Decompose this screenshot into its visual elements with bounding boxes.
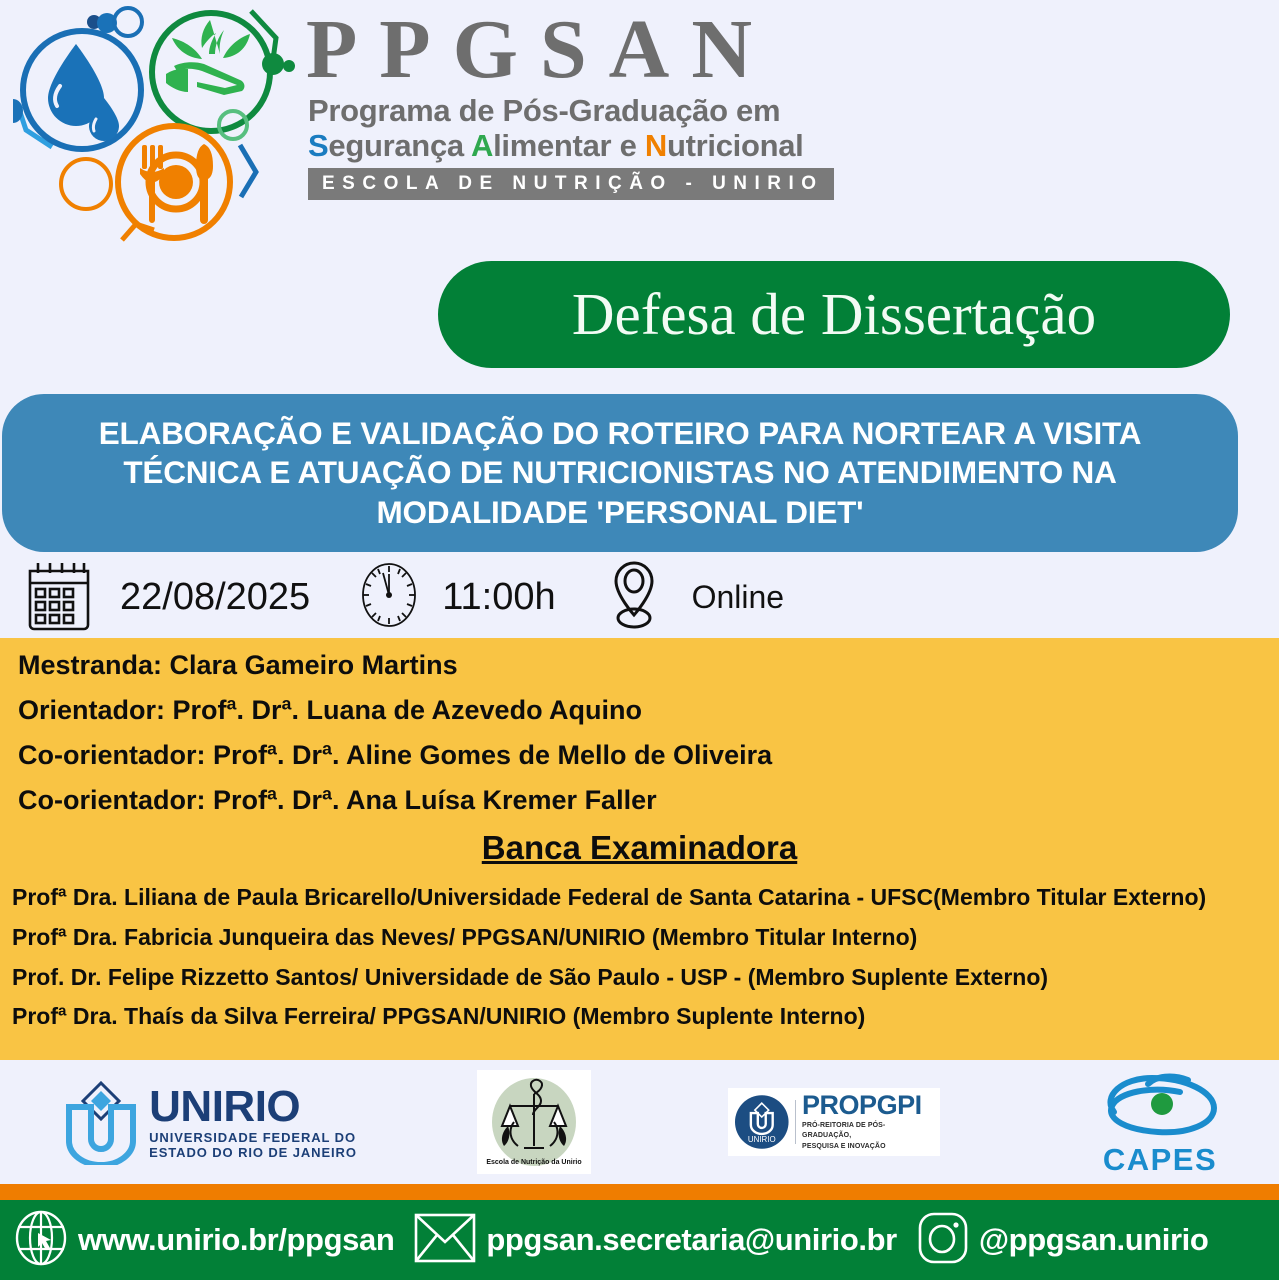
thesis-title: ELABORAÇÃO E VALIDAÇÃO DO ROTEIRO PARA N… [28, 414, 1212, 532]
clock-icon [358, 560, 420, 635]
website-text[interactable]: www.unirio.br/ppgsan [78, 1222, 394, 1258]
event-info-row: 22/08/2025 11:00h [0, 556, 1279, 638]
participants-panel: Mestranda: Clara Gameiro Martins Orienta… [0, 638, 1279, 1060]
banca-member: Profª Dra. Fabricia Junqueira das Neves/… [12, 922, 1267, 953]
propgpi-badge-text: UNIRIO [747, 1135, 775, 1144]
banca-heading: Banca Examinadora [8, 828, 1271, 868]
instagram-text[interactable]: @ppgsan.unirio [979, 1222, 1209, 1258]
header: PPGSAN Programa de Pós-Graduação em Segu… [0, 0, 1279, 248]
banca-member: Profª Dra. Thaís da Silva Ferreira/ PPGS… [12, 1001, 1267, 1032]
propgpi-sub1: PRÓ-REITORIA DE PÓS-GRADUAÇÃO, [802, 1121, 933, 1140]
propgpi-name: PROPGPI [802, 1092, 933, 1119]
capes-logo: CAPES [1080, 1060, 1240, 1184]
ppgsan-n: N [645, 128, 667, 163]
instagram-item[interactable]: @ppgsan.unirio [917, 1210, 1209, 1271]
event-date: 22/08/2025 [120, 576, 310, 619]
ppgsan-logo-marks [4, 2, 300, 242]
event-time-item: 11:00h [358, 560, 555, 635]
banca-member: Prof. Dr. Felipe Rizzetto Santos/ Univer… [12, 962, 1267, 993]
sponsor-logo-strip: UNIRIO UNIVERSIDADE FEDERAL DO ESTADO DO… [0, 1060, 1279, 1184]
calendar-icon [26, 559, 92, 636]
escola-seal-icon: Escola de Nutrição da Unirio [484, 1074, 584, 1170]
ppgsan-san-line: Segurança Alimentar e Nutricional [300, 129, 860, 164]
event-location: Online [692, 579, 785, 616]
event-date-item: 22/08/2025 [26, 559, 310, 636]
ppgsan-seguranca: egurança [328, 128, 471, 163]
ppgsan-a: A [471, 128, 493, 163]
capes-mark-icon [1092, 1070, 1228, 1142]
participant-line: Co-orientador: Profª. Drª. Ana Luísa Kre… [18, 783, 1271, 818]
unirio-logo: UNIRIO UNIVERSIDADE FEDERAL DO ESTADO DO… [60, 1060, 360, 1184]
contact-footer: www.unirio.br/ppgsan ppgsan.secretaria@u… [0, 1200, 1279, 1280]
ppgsan-acronym: PPGSAN [300, 6, 860, 94]
email-text[interactable]: ppgsan.secretaria@unirio.br [486, 1222, 897, 1258]
event-time: 11:00h [442, 576, 555, 619]
ppgsan-s: S [308, 128, 328, 163]
email-item[interactable]: ppgsan.secretaria@unirio.br [414, 1212, 897, 1269]
event-type-label: Defesa de Dissertação [572, 285, 1096, 344]
envelope-icon [414, 1212, 476, 1269]
capes-name: CAPES [1092, 1144, 1228, 1175]
event-location-item: Online [606, 559, 785, 636]
unirio-name: UNIRIO [149, 1085, 357, 1129]
propgpi-divider [795, 1100, 796, 1144]
propgpi-sub2: PESQUISA E INOVAÇÃO [802, 1142, 933, 1151]
orange-divider [0, 1184, 1279, 1200]
ppgsan-program-line: Programa de Pós-Graduação em [300, 94, 860, 129]
propgpi-logo: UNIRIO PROPGPI PRÓ-REITORIA DE PÓS-GRADU… [726, 1060, 941, 1184]
escola-seal-text: Escola de Nutrição da Unirio [486, 1159, 581, 1166]
escola-nutricao-bar: ESCOLA DE NUTRIÇÃO - UNIRIO [308, 168, 834, 200]
banca-member: Profª Dra. Liliana de Paula Bricarello/U… [12, 882, 1267, 913]
unirio-mark-icon [63, 1079, 139, 1165]
thesis-title-box: ELABORAÇÃO E VALIDAÇÃO DO ROTEIRO PARA N… [2, 394, 1238, 552]
participant-line: Orientador: Profª. Drª. Luana de Azevedo… [18, 693, 1271, 728]
escola-nutricao-seal: Escola de Nutrição da Unirio [466, 1060, 601, 1184]
unirio-sub1: UNIVERSIDADE FEDERAL DO [149, 1131, 357, 1144]
ppgsan-wordmark: PPGSAN Programa de Pós-Graduação em Segu… [300, 6, 860, 200]
location-pin-icon [606, 559, 662, 636]
propgpi-unirio-badge-icon: UNIRIO [734, 1094, 790, 1150]
ppgsan-alimentar: limentar e [493, 128, 645, 163]
instagram-icon [917, 1210, 969, 1271]
unirio-sub2: ESTADO DO RIO DE JANEIRO [149, 1146, 357, 1159]
ppgsan-nutricional: utricional [667, 128, 804, 163]
website-item[interactable]: www.unirio.br/ppgsan [14, 1209, 394, 1272]
participant-line: Mestranda: Clara Gameiro Martins [18, 648, 1271, 683]
participant-line: Co-orientador: Profª. Drª. Aline Gomes d… [18, 738, 1271, 773]
event-type-banner: Defesa de Dissertação [438, 261, 1230, 368]
globe-icon [14, 1209, 68, 1272]
